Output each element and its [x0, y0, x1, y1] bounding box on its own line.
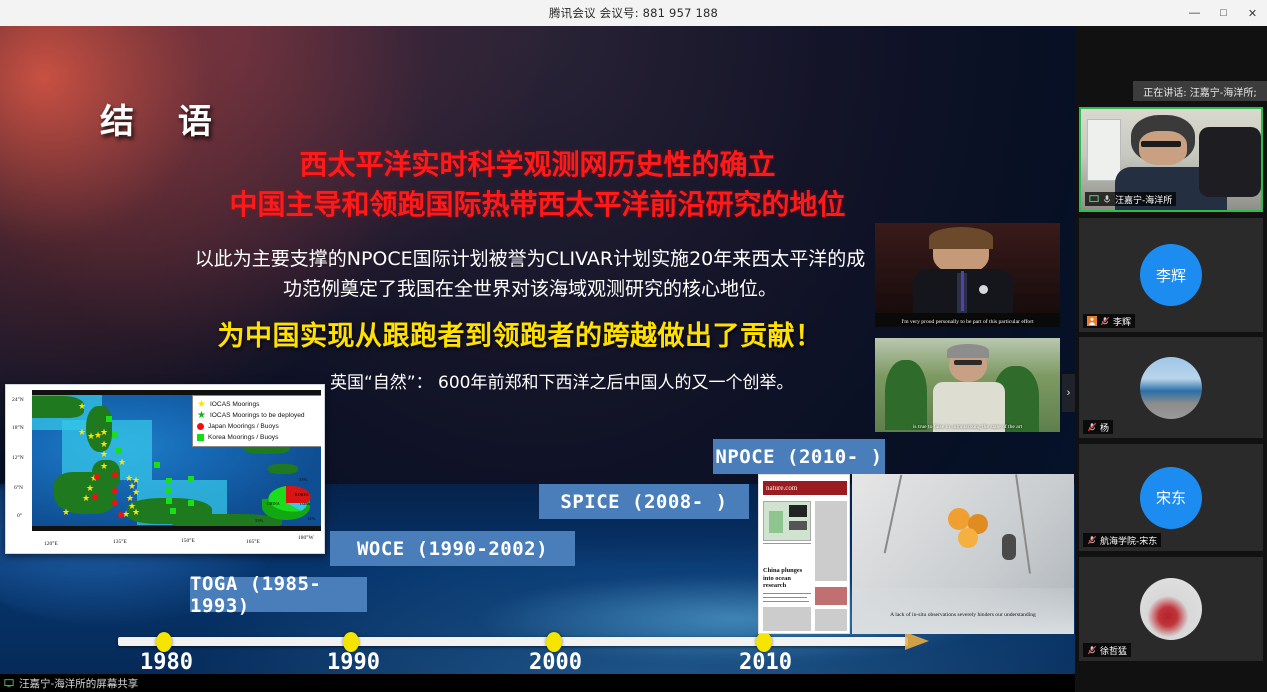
mic-on-icon: [1102, 194, 1112, 204]
participant-name: 汪嘉宁-海洋所: [1115, 193, 1172, 206]
participant-tile-4[interactable]: 徐哲猛: [1079, 557, 1263, 661]
svg-text:CHINA: CHINA: [267, 501, 280, 506]
screen-share-icon: [4, 678, 14, 688]
timeline-dot-2010: [756, 632, 772, 652]
timeline-axis: [118, 637, 908, 646]
yellow-star-icon: ★: [197, 399, 206, 410]
participant-name-badge: 航海学院-宋东: [1083, 533, 1161, 547]
active-speaker-banner: 正在讲话: 汪嘉宁-海洋所;: [1133, 81, 1267, 101]
map-lon-label: 180°W: [298, 535, 314, 541]
nature-logo: nature.com: [763, 481, 847, 495]
slide-headline-1: 西太平洋实时科学观测网历史性的确立: [0, 143, 1075, 183]
timeline-box-spice: SPICE (2008- ): [539, 484, 749, 519]
mic-muted-icon: [1087, 645, 1097, 655]
map-lat-label: 18°N: [12, 425, 24, 431]
maximize-button[interactable]: □: [1209, 0, 1238, 26]
shared-screen-stage: 结 语 西太平洋实时科学观测网历史性的确立 中国主导和领跑国际热带西太平洋前沿研…: [0, 26, 1075, 692]
timeline-dot-2000: [546, 632, 562, 652]
avatar: 李辉: [1140, 244, 1202, 306]
photo-caption: A lack of in-situ observations severely …: [852, 612, 1074, 618]
raise-hand-icon: [1087, 316, 1097, 326]
slide-headline-2: 中国主导和领跑国际热带西太平洋前沿研究的地位: [0, 183, 1075, 223]
participant-name-badge: 汪嘉宁-海洋所: [1085, 192, 1176, 206]
timeline-year-label: 1990: [327, 650, 380, 674]
participant-name: 航海学院-宋东: [1100, 534, 1157, 547]
next-slide-arrow-icon[interactable]: ›: [1062, 374, 1075, 412]
timeline-arrow-icon: [905, 632, 929, 650]
participant-tile-1[interactable]: 李辉 李辉: [1079, 218, 1263, 332]
window-title-bar: 腾讯会议 会议号: 881 957 188 — □ ✕: [0, 0, 1267, 26]
clipping-headline: China plunges into ocean research: [763, 567, 811, 590]
nature-site-label: nature.com: [763, 481, 847, 495]
map-lat-label: 0°: [17, 513, 22, 519]
outdoor-interview-video: is true to false in summarizing the stat…: [875, 338, 1060, 432]
timeline-box-woce: WOCE (1990-2002): [330, 531, 575, 566]
participant-name: 徐哲猛: [1100, 644, 1127, 657]
mic-muted-icon: [1087, 535, 1097, 545]
screen-share-icon: [1089, 194, 1099, 204]
map-lat-label: 12°N: [12, 455, 24, 461]
presentation-slide: 结 语 西太平洋实时科学观测网历史性的确立 中国主导和领跑国际热带西太平洋前沿研…: [0, 26, 1075, 674]
svg-text:KOREA: KOREA: [295, 492, 309, 497]
conference-speaker-video: I'm very proud personally to be part of …: [875, 223, 1060, 327]
nature-news-clipping: nature.com China plunges into ocean rese…: [758, 474, 850, 634]
timeline-year-label: 2000: [529, 650, 582, 674]
green-star-icon: ★: [197, 410, 206, 421]
window-controls: — □ ✕: [1180, 0, 1267, 26]
country-share-pie-chart: KOREA JAPAN CHINA 33% 14% 53%: [255, 475, 317, 525]
slide-body-text: 以此为主要支撑的NPOCE国际计划被誉为CLIVAR计划实施20年来西太平洋的成…: [190, 244, 870, 304]
participant-name-badge: 李辉: [1083, 314, 1135, 328]
participant-tile-0[interactable]: 汪嘉宁-海洋所: [1079, 107, 1263, 212]
timeline-dot-1980: [156, 632, 172, 652]
map-lon-label: 120°E: [44, 541, 58, 547]
mooring-map-figure: ★ ★ ★ ★ ★ ★ ★ ★ ★ ★ ★ ★ ★ ★ ★ ★ ★: [5, 384, 325, 554]
map-lat-label: 6°N: [14, 485, 23, 491]
legend-item: ★IOCAS Moorings: [197, 399, 321, 410]
mooring-deployment-photo: A lack of in-situ observations severely …: [852, 474, 1074, 634]
minimize-button[interactable]: —: [1180, 0, 1209, 26]
legend-label: Japan Moorings / Buoys: [208, 423, 279, 430]
participant-name-badge: 徐哲猛: [1083, 643, 1131, 657]
timeline-box-npoce: NPOCE (2010- ): [713, 439, 885, 474]
slide-section-title: 结 语: [100, 94, 228, 143]
red-circle-icon: [197, 423, 204, 430]
participant-rail: 正在讲话: 汪嘉宁-海洋所; 汪嘉宁-海洋所: [1075, 26, 1267, 692]
avatar: 宋东: [1140, 467, 1202, 529]
map-lat-label: 24°N: [12, 397, 24, 403]
mic-muted-icon: [1087, 422, 1097, 432]
participant-tile-3[interactable]: 宋东 航海学院-宋东: [1079, 444, 1263, 551]
slide-nature-quote: 英国“自然”： 600年前郑和下西洋之后中国人的又一个创举。: [330, 370, 875, 396]
pie-label-korea: 33%: [299, 477, 308, 482]
map-legend: ★IOCAS Moorings ★IOCAS Moorings to be de…: [192, 395, 321, 447]
legend-label: IOCAS Moorings: [210, 401, 259, 408]
screen-share-status-bar: 汪嘉宁-海洋所的屏幕共享: [0, 674, 1075, 692]
participant-name: 李辉: [1113, 315, 1131, 328]
screen-share-status-text: 汪嘉宁-海洋所的屏幕共享: [19, 676, 138, 691]
map-lon-label: 150°E: [181, 538, 195, 544]
participant-tile-2[interactable]: 杨: [1079, 337, 1263, 438]
video-caption: is true to false in summarizing the stat…: [875, 424, 1060, 430]
video-caption: I'm very proud personally to be part of …: [875, 319, 1060, 325]
pie-label-japan: 14%: [307, 516, 316, 521]
avatar: [1140, 578, 1202, 640]
timeline-box-toga: TOGA (1985-1993): [190, 577, 367, 612]
avatar: [1140, 357, 1202, 419]
legend-item: Korea Moorings / Buoys: [197, 432, 321, 443]
participant-name: 杨: [1100, 421, 1109, 434]
green-square-icon: [197, 434, 204, 441]
meeting-window: 腾讯会议 会议号: 881 957 188 — □ ✕ 结 语 西太平洋实时科学…: [0, 0, 1267, 692]
slide-highlight-text: 为中国实现从跟跑者到领跑者的跨越做出了贡献！: [160, 314, 880, 353]
legend-item: ★IOCAS Moorings to be deployed: [197, 410, 321, 421]
legend-item: Japan Moorings / Buoys: [197, 421, 321, 432]
legend-label: Korea Moorings / Buoys: [208, 434, 278, 441]
timeline-year-label: 2010: [739, 650, 792, 674]
svg-text:JAPAN: JAPAN: [300, 502, 311, 506]
mic-muted-icon: [1100, 316, 1110, 326]
pie-label-china: 53%: [255, 518, 264, 523]
timeline-year-label: 1980: [140, 650, 193, 674]
participant-name-badge: 杨: [1083, 420, 1113, 434]
timeline-dot-1990: [343, 632, 359, 652]
close-button[interactable]: ✕: [1238, 0, 1267, 26]
map-lon-label: 165°E: [246, 539, 260, 545]
map-canvas: ★ ★ ★ ★ ★ ★ ★ ★ ★ ★ ★ ★ ★ ★ ★ ★ ★: [32, 390, 321, 531]
map-lon-label: 135°E: [113, 539, 127, 545]
window-title: 腾讯会议 会议号: 881 957 188: [549, 5, 718, 21]
legend-label: IOCAS Moorings to be deployed: [210, 412, 305, 419]
